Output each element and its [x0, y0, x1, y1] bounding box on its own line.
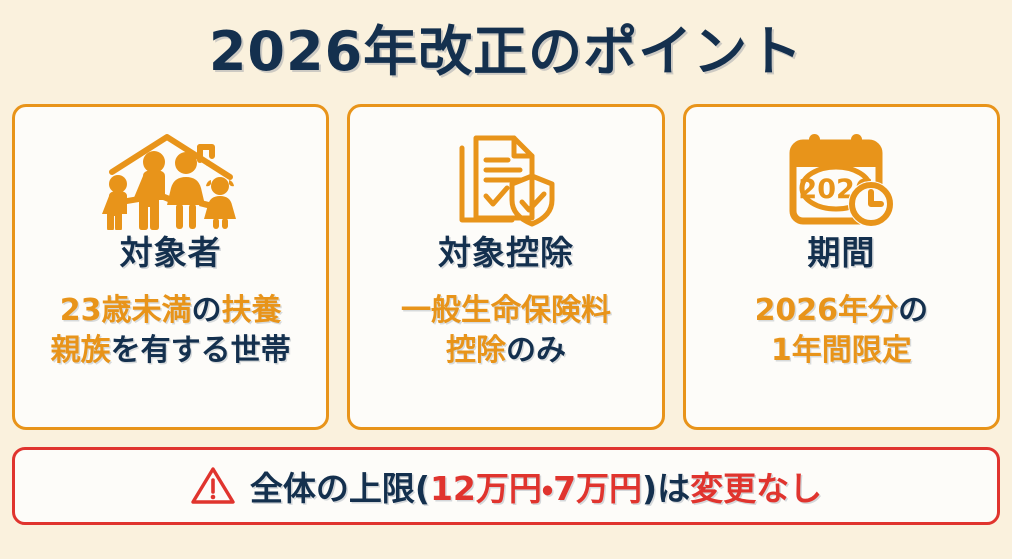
text-segment: の [898, 293, 928, 328]
text-segment: を有する世帯 [111, 333, 291, 368]
card-body-line-2: 控除のみ [401, 331, 611, 371]
warning-triangle-icon [190, 465, 236, 507]
text-segment: 扶養 [222, 293, 282, 328]
text-segment: の [192, 293, 222, 328]
card-target-deduction: 対象控除 一般生命保険料 控除のみ [347, 104, 664, 430]
title-container: 2026年改正のポイント [0, 0, 1012, 104]
text-segment: )は [642, 469, 690, 508]
family-under-house-icon [96, 129, 246, 231]
card-heading: 期間 [807, 235, 875, 271]
text-segment: 変更なし [690, 469, 822, 508]
text-segment: 親族 [51, 333, 111, 368]
page-title: 2026年改正のポイント [209, 25, 803, 79]
document-shield-icon [450, 129, 562, 231]
text-segment: 全体の上限( [250, 469, 430, 508]
text-segment: 23歳未満 [60, 293, 192, 328]
card-body-line-1: 一般生命保険料 [401, 291, 611, 331]
card-body: 23歳未満の扶養 親族を有する世帯 [51, 291, 291, 370]
calendar-clock-icon: 2026 [781, 129, 901, 231]
card-heading: 対象者 [120, 235, 222, 271]
banner-text: 全体の上限(12万円・7万円)は変更なし [250, 462, 822, 510]
card-body-line-1: 2026年分の [755, 291, 929, 331]
text-segment: のみ [506, 333, 566, 368]
card-target-person: 対象者 23歳未満の扶養 親族を有する世帯 [12, 104, 329, 430]
text-segment: 一般生命保険料 [401, 293, 611, 328]
text-segment: 2026年分 [755, 293, 899, 328]
warning-banner: 全体の上限(12万円・7万円)は変更なし [12, 447, 1000, 525]
card-body: 2026年分の 1年間限定 [755, 291, 929, 370]
infographic-page: 2026年改正のポイント [0, 0, 1012, 559]
card-heading: 対象控除 [438, 235, 574, 271]
cards-row: 対象者 23歳未満の扶養 親族を有する世帯 [0, 104, 1012, 430]
card-body: 一般生命保険料 控除のみ [401, 291, 611, 370]
card-body-line-1: 23歳未満の扶養 [51, 291, 291, 331]
card-period: 2026 期間 2026年分の 1年間限定 [683, 104, 1000, 430]
text-segment: 控除 [446, 333, 506, 368]
text-segment: 1年間限定 [771, 333, 912, 368]
text-segment: 12万円・7万円 [430, 469, 642, 508]
banner-container: 全体の上限(12万円・7万円)は変更なし [0, 430, 1012, 525]
card-body-line-2: 1年間限定 [755, 331, 929, 371]
card-body-line-2: 親族を有する世帯 [51, 331, 291, 371]
